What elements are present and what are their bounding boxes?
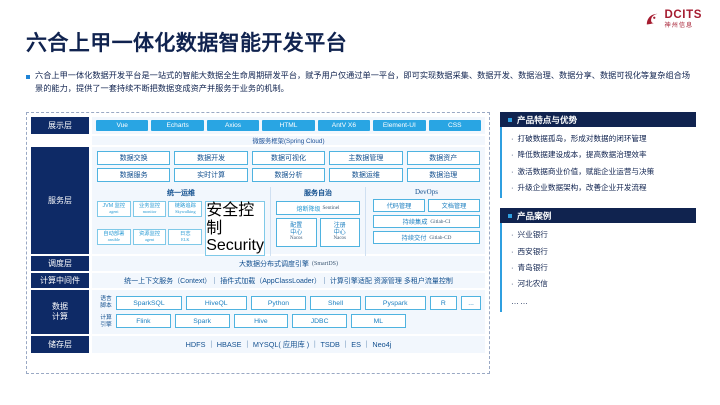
tech-chip-axios[interactable]: Axios [207,120,259,131]
page-title: 六合上甲一体化数据智能开发平台 [26,27,347,57]
gov-cell-pair: 配置 中心 Nacos 注册 中心 Nacos [276,218,360,247]
slide-root: DCITS 神州信息 六合上甲一体化数据智能开发平台 六合上甲一体化数据开发平台… [0,0,720,405]
devops-pair: 代码管理 文档管理 [373,199,480,212]
devops-cell-continuous-delivery[interactable]: 持续交付 Gitlab-CD [373,231,480,244]
microservice-framework-bar: 微服务框架(Spring Cloud) [92,136,485,145]
gov-cell-label-cn: 熔断降级 [296,204,320,213]
service-module-realtime-compute[interactable]: 实时计算 [174,168,247,182]
ops-cell-label-en: ansible [108,238,120,243]
panel-header-features: 产品特点与优势 [500,112,696,127]
service-module-grid: 数据交换 数据开发 数据可视化 主数据管理 数据资产 数据服务 实时计算 数据分… [97,151,480,182]
panel-title-features: 产品特点与优势 [517,114,577,126]
service-module-data-service[interactable]: 数据服务 [97,168,170,182]
layer-label-middleware: 计算中间件 [31,273,89,288]
tech-chip-css[interactable]: CSS [429,120,481,131]
subsection-service-governance: 服务自治 熔断降级 Sentinel 配置 中心 Nacos [270,187,366,256]
gov-cell-label-en: Sentinel [323,205,340,211]
schedule-text-cn: 大数据分布式调度引擎 [239,259,309,269]
case-item: · 西安银行 [511,248,696,256]
feature-item-label: 激活数据商业价值，赋能企业运营与决策 [518,168,655,176]
intro-paragraph: 六合上甲一体化数据开发平台是一站式的智能大数据全生命周期研发平台，赋予用户仅通过… [26,70,696,95]
feature-item-label: 打破数据孤岛，形成对数据的闭环管理 [518,135,647,143]
panel-features: 产品特点与优势 · 打破数据孤岛，形成对数据的闭环管理 · 降低数据建设成本，提… [500,112,696,198]
layer-label-schedule: 调度层 [31,256,89,271]
presentation-chips: Vue Echarts Axios HTML AntV X6 Element-U… [92,117,485,134]
compute-cell-shell[interactable]: Shell [310,296,361,310]
square-bullet-icon [508,118,512,122]
layer-middleware: 计算中间件 统一上下文服务（Context）｜ 插件式加载（AppClassLo… [31,273,485,288]
devops-cell-label-cn: 持续集成 [403,217,428,226]
compute-cell-hiveql[interactable]: HiveQL [186,296,247,310]
panel-title-cases: 产品案例 [517,210,551,222]
dot-bullet-icon: · [511,248,514,256]
ops-cell-grid: JVM 监控 agent 业务监控 monitor 链路追踪 Skywalkin… [97,201,202,256]
service-module-data-assets[interactable]: 数据资产 [407,151,480,165]
dot-bullet-icon: · [511,231,514,239]
ops-cell-security-control[interactable]: 安全控制 Security [205,201,265,256]
gov-cell-config-center[interactable]: 配置 中心 Nacos [276,218,317,247]
compute-cell-flink[interactable]: Flink [116,314,171,328]
ops-cell-label-en: Security [206,237,264,255]
logo-text-main: DCITS [665,10,703,22]
ops-cell-label-en: Skywalking [175,210,196,215]
case-list-ellipsis: …… [511,297,696,306]
dot-bullet-icon: · [511,151,514,159]
case-item: · 河北农信 [511,280,696,288]
panel-body-features: · 打破数据孤岛，形成对数据的闭环管理 · 降低数据建设成本，提高数据治理效率 … [500,127,696,198]
tech-chip-vue[interactable]: Vue [96,120,148,131]
layer-label-storage: 储存层 [31,336,89,353]
feature-item: · 打破数据孤岛，形成对数据的闭环管理 [511,135,696,143]
compute-cell-hive[interactable]: Hive [234,314,289,328]
feature-item: · 升级企业数据架构，改善企业开发流程 [511,184,696,192]
subsection-title-unified-ops: 统一运维 [97,188,265,198]
service-module-data-development[interactable]: 数据开发 [174,151,247,165]
compute-cell-ml[interactable]: ML [351,314,406,328]
ops-cells-wrap: JVM 监控 agent 业务监控 monitor 链路追踪 Skywalkin… [97,201,265,256]
ops-cell-business-monitor[interactable]: 业务监控 monitor [133,201,167,217]
service-module-data-exchange[interactable]: 数据交换 [97,151,170,165]
compute-row-languages: SparkSQL HiveQL Python Shell Pyspark R .… [116,296,481,310]
gov-cell-label-cn1: 注册 [334,223,346,230]
dot-bullet-icon: · [511,184,514,192]
dcits-logo-icon [644,11,661,28]
dot-bullet-icon: · [511,168,514,176]
devops-cell-label-en: Gitlab-CD [429,235,451,241]
feature-item: · 激活数据商业价值，赋能企业运营与决策 [511,168,696,176]
devops-cell-code-management[interactable]: 代码管理 [373,199,425,212]
gov-cell-label-en: Nacos [334,236,347,242]
compute-cell-r[interactable]: R [430,296,458,310]
ops-cell-label-en: monitor [143,210,157,215]
compute-cell-pyspark[interactable]: Pyspark [365,296,426,310]
feature-item: · 降低数据建设成本，提高数据治理效率 [511,151,696,159]
subsection-devops: DevOps 代码管理 文档管理 持续集成 Gitlab-CI 持续交付 Git… [371,187,480,256]
layer-storage: 储存层 HDFS ｜ HBASE ｜ MYSQL( 应用库 ) ｜ TSDB ｜… [31,336,485,353]
service-module-data-visualization[interactable]: 数据可视化 [252,151,325,165]
compute-cell-python[interactable]: Python [251,296,307,310]
panel-cases: 产品案例 · 兴业银行 · 西安银行 · 青岛银行 · 河北农信 [500,208,696,311]
dot-bullet-icon: · [511,135,514,143]
layer-label-compute: 数据 计算 [31,290,89,334]
tech-chip-html[interactable]: HTML [262,120,314,131]
gov-cell-label-cn1: 配置 [290,223,302,230]
layer-presentation: 展示层 Vue Echarts Axios HTML AntV X6 Eleme… [31,117,485,134]
middleware-layer-body: 统一上下文服务（Context）｜ 插件式加载（AppClassLoader）｜… [92,273,485,288]
layer-service: 服务层 数据交换 数据开发 数据可视化 主数据管理 数据资产 数据服务 实时计算… [31,147,485,254]
brand-logo: DCITS 神州信息 [644,10,703,29]
compute-side-label-engine-2: 引擎 [100,322,112,328]
compute-side-labels: 语言 脚本 计算 引擎 [96,293,116,331]
layer-compute: 数据 计算 语言 脚本 计算 引擎 SparkSQ [31,290,485,334]
case-item-label: 青岛银行 [518,264,548,272]
feature-item-label: 降低数据建设成本，提高数据治理效率 [518,151,647,159]
tech-chip-element-ui[interactable]: Element-UI [373,120,425,131]
compute-side-label-language-2: 脚本 [100,303,112,309]
case-item-label: 兴业银行 [518,231,548,239]
gov-cell-circuit-breaker[interactable]: 熔断降级 Sentinel [276,201,360,215]
case-item-label: 西安银行 [518,248,548,256]
compute-layer-body: 语言 脚本 计算 引擎 SparkSQL HiveQL Python Shell… [92,290,485,334]
subsection-title-devops: DevOps [373,188,480,196]
ops-cell-logging[interactable]: 日志 ELK [168,229,202,245]
compute-side-label-engine-1: 计算 [100,315,112,321]
square-bullet-icon [508,214,512,218]
subsection-unified-ops: 统一运维 JVM 监控 agent 业务监控 monitor [97,187,265,256]
schedule-layer-body: 大数据分布式调度引擎 (SmartDS) [92,256,485,271]
ops-cell-label-en: agent [145,238,154,243]
compute-cell-sparksql[interactable]: SparkSQL [116,296,182,310]
tech-chip-echarts[interactable]: Echarts [151,120,203,131]
service-subsections: 统一运维 JVM 监控 agent 业务监控 monitor [97,187,480,256]
dot-bullet-icon: · [511,264,514,272]
layer-label-service: 服务层 [31,147,89,254]
ops-cell-jvm-monitor[interactable]: JVM 监控 agent [97,201,131,217]
compute-cell-more[interactable]: ... [461,296,481,310]
ops-cell-resource-monitor[interactable]: 资源监控 agent [133,229,167,245]
gov-cell-label-cn2: 中心 [334,230,346,237]
architecture-diagram: 展示层 Vue Echarts Axios HTML AntV X6 Eleme… [26,112,490,374]
service-module-data-governance[interactable]: 数据治理 [407,168,480,182]
case-item: · 兴业银行 [511,231,696,239]
compute-row-engines: Flink Spark Hive JDBC ML [116,314,481,328]
service-layer-body: 数据交换 数据开发 数据可视化 主数据管理 数据资产 数据服务 实时计算 数据分… [92,147,485,254]
devops-cell-label-en: Gitlab-CI [430,219,450,225]
side-panels: 产品特点与优势 · 打破数据孤岛，形成对数据的闭环管理 · 降低数据建设成本，提… [500,112,696,374]
case-item: · 青岛银行 [511,264,696,272]
devops-cell-continuous-integration[interactable]: 持续集成 Gitlab-CI [373,215,480,228]
service-module-master-data-management[interactable]: 主数据管理 [329,151,402,165]
compute-side-label-language-1: 语言 [100,296,112,302]
service-module-data-ops[interactable]: 数据运维 [329,168,402,182]
gov-cell-registry-center[interactable]: 注册 中心 Nacos [320,218,361,247]
dot-bullet-icon: · [511,280,514,288]
logo-text-sub: 神州信息 [665,23,703,29]
panel-header-cases: 产品案例 [500,208,696,223]
storage-layer-body: HDFS ｜ HBASE ｜ MYSQL( 应用库 ) ｜ TSDB ｜ ES … [92,336,485,353]
compute-cell-jdbc[interactable]: JDBC [292,314,347,328]
gov-cell-label-cn2: 中心 [290,230,302,237]
feature-item-label: 升级企业数据架构，改善企业开发流程 [518,184,647,192]
layer-label-compute-line1: 数据 [52,302,68,311]
case-item-label: 河北农信 [518,280,548,288]
layer-label-presentation: 展示层 [31,117,89,134]
compute-rows: SparkSQL HiveQL Python Shell Pyspark R .… [116,296,481,328]
intro-text: 六合上甲一体化数据开发平台是一站式的智能大数据全生命周期研发平台，赋予用户仅通过… [35,70,696,95]
panel-body-cases: · 兴业银行 · 西安银行 · 青岛银行 · 河北农信 …… [500,223,696,311]
ops-cell-label-cn: 安全控制 [206,202,264,237]
square-bullet-icon [26,75,30,79]
subsection-title-service-governance: 服务自治 [276,188,360,198]
devops-cell-doc-management[interactable]: 文档管理 [428,199,480,212]
schedule-text-en: (SmartDS) [312,261,338,267]
devops-cell-label-cn: 持续交付 [402,233,427,242]
ops-cell-label-en: agent [109,210,118,215]
ops-cell-tracing[interactable]: 链路追踪 Skywalking [168,201,202,217]
service-module-data-analysis[interactable]: 数据分析 [252,168,325,182]
tech-chip-antv[interactable]: AntV X6 [318,120,370,131]
compute-cell-spark[interactable]: Spark [175,314,230,328]
layer-schedule: 调度层 大数据分布式调度引擎 (SmartDS) [31,256,485,271]
ops-cell-auto-deploy[interactable]: 自动部署 ansible [97,229,131,245]
ops-cell-label-en: ELK [181,238,189,243]
gov-cell-label-en: Nacos [290,236,303,242]
layer-label-compute-line2: 计算 [52,312,68,321]
